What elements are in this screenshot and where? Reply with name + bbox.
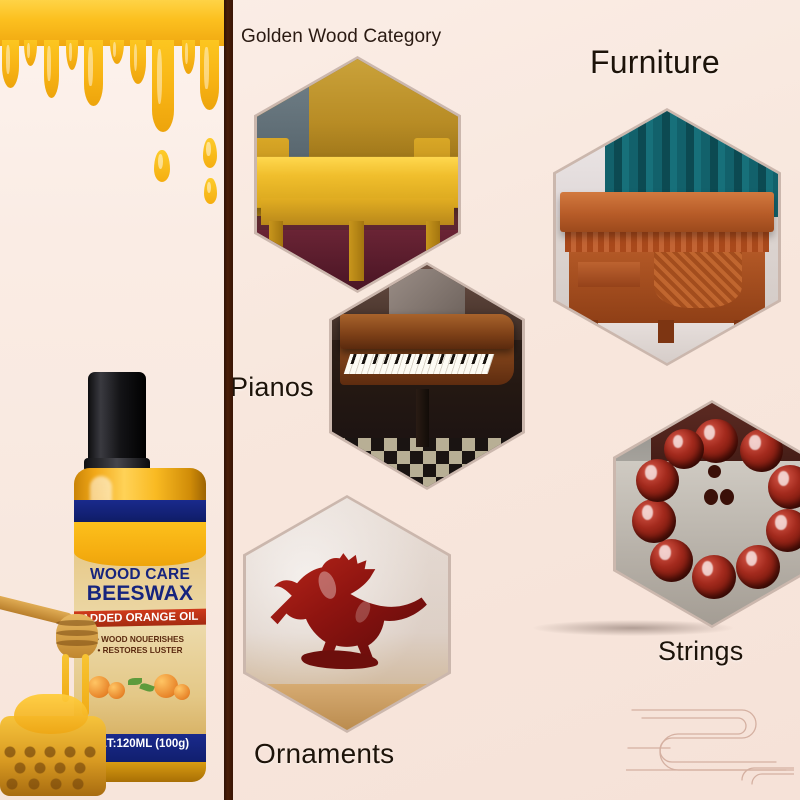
piano-image	[332, 265, 522, 487]
category-panel: Golden Wood Category	[233, 0, 800, 800]
category-tile-pianos[interactable]	[329, 262, 525, 490]
product-panel: WOOD CARE BEESWAX ADDED ORANGE OIL • WOO…	[0, 0, 226, 800]
category-tile-golden-wood-table[interactable]	[254, 56, 461, 293]
category-label-pianos: Pianos	[230, 372, 314, 403]
chinese-cloud-motif-icon	[626, 684, 794, 794]
ornament-image	[246, 498, 448, 730]
honey-dipper-and-comb	[0, 598, 114, 800]
golden-wood-table-image	[257, 59, 458, 290]
horse-sculpture-icon	[258, 535, 436, 697]
category-tile-furniture[interactable]	[553, 108, 781, 366]
category-heading: Golden Wood Category	[241, 26, 441, 48]
advertisement-canvas: WOOD CARE BEESWAX ADDED ORANGE OIL • WOO…	[0, 0, 800, 800]
panel-divider	[224, 0, 233, 800]
category-tile-ornaments[interactable]	[243, 495, 451, 733]
category-label-furniture: Furniture	[590, 44, 720, 81]
beads-image	[616, 403, 800, 625]
category-label-ornaments: Ornaments	[254, 738, 394, 770]
bottle-cap-icon	[88, 372, 146, 464]
category-label-strings: Strings	[658, 636, 743, 667]
category-tile-strings[interactable]	[613, 400, 800, 628]
furniture-image	[556, 111, 778, 363]
